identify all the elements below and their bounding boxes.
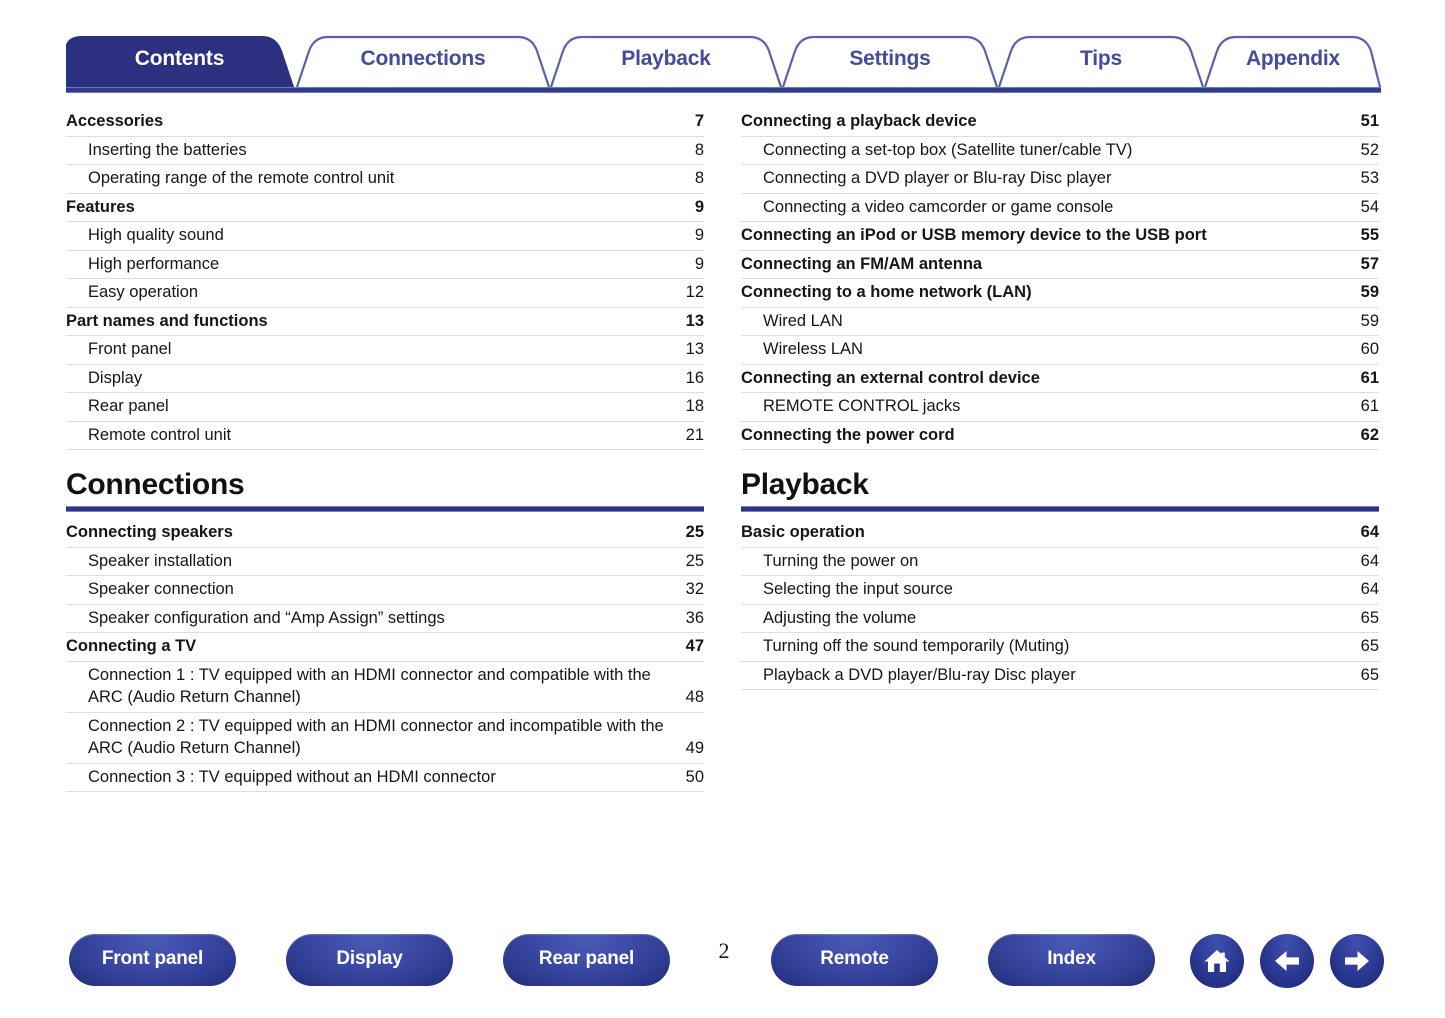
page-number: 2 [694,938,754,964]
toc-entry-title: Wired LAN [741,310,857,333]
tab-bar: Contents Connections Playback Settings T… [66,33,1381,91]
section-title: Connections [66,468,704,506]
toc-column-right: Connecting a playback device51Connecting… [741,108,1379,690]
toc-entry-page: 64 [1355,521,1379,544]
toc-row[interactable]: Connecting the power cord62 [741,422,1379,451]
tab-connections[interactable]: Connections [297,33,549,85]
toc-entry-title: High quality sound [66,224,238,247]
toc-row[interactable]: Connection 2 : TV equipped with an HDMI … [66,713,704,764]
section-heading-connections: Connections [66,468,704,512]
toc-entry-page: 64 [1355,550,1379,573]
front-panel-button[interactable]: Front panel [69,934,236,986]
toc-entry-title: Connecting to a home network (LAN) [741,281,1046,304]
toc-row[interactable]: Connecting a video camcorder or game con… [741,194,1379,223]
toc-entry-title: Connecting the power cord [741,424,969,447]
toc-entry-page: 47 [680,635,704,658]
toc-entry-page: 61 [1355,367,1379,390]
toc-entry-page: 57 [1355,253,1379,276]
toc-row[interactable]: Connection 1 : TV equipped with an HDMI … [66,662,704,713]
toc-entry-page: 21 [680,424,704,447]
toc-entry-title: Turning the power on [741,550,932,573]
toc-entry-title: Connecting an iPod or USB memory device … [741,224,1221,247]
toc-entry-title: Connecting a video camcorder or game con… [741,196,1127,219]
toc-entry-page: 32 [680,578,704,601]
toc-entry-title: Turning off the sound temporarily (Mutin… [741,635,1083,658]
toc-entry-page: 65 [1355,607,1379,630]
toc-entry-page: 61 [1355,395,1379,418]
toc-entry-title: REMOTE CONTROL jacks [741,395,974,418]
toc-entry-page: 13 [680,338,704,361]
toc-row[interactable]: Display16 [66,365,704,394]
toc-entry-title: Speaker configuration and “Amp Assign” s… [66,607,459,630]
toc-entry-title: Connecting speakers [66,521,247,544]
toc-entry-page: 9 [680,253,704,276]
toc-entry-title: Speaker installation [66,550,246,573]
toc-entry-title: Speaker connection [66,578,248,601]
rear-panel-button[interactable]: Rear panel [503,934,670,986]
toc-row[interactable]: Connection 3 : TV equipped without an HD… [66,764,704,793]
tab-playback[interactable]: Playback [551,33,781,85]
toc-entry-page: 48 [680,686,704,709]
toc-row[interactable]: Turning off the sound temporarily (Mutin… [741,633,1379,662]
tab-contents[interactable]: Contents [66,33,293,85]
toc-entry-page: 7 [680,110,704,133]
toc-row[interactable]: Connecting an FM/AM antenna57 [741,251,1379,280]
toc-entry-page: 53 [1355,167,1379,190]
toc-entry-page: 51 [1355,110,1379,133]
toc-entry-page: 18 [680,395,704,418]
toc-row[interactable]: High quality sound9 [66,222,704,251]
toc-row[interactable]: Speaker installation25 [66,548,704,577]
toc-entry-title: Connecting an external control device [741,367,1054,390]
tab-tips[interactable]: Tips [999,33,1203,85]
toc-row[interactable]: Wired LAN59 [741,308,1379,337]
toc-row[interactable]: Rear panel18 [66,393,704,422]
toc-entry-page: 36 [680,607,704,630]
toc-row[interactable]: Speaker configuration and “Amp Assign” s… [66,605,704,634]
toc-row[interactable]: Speaker connection32 [66,576,704,605]
toc-entry-title: Part names and functions [66,310,282,333]
toc-row[interactable]: Connecting a DVD player or Blu-ray Disc … [741,165,1379,194]
tab-appendix[interactable]: Appendix [1205,33,1381,85]
toc-entry-title: Front panel [66,338,185,361]
toc-entry-page: 8 [680,167,704,190]
toc-entry-title: Selecting the input source [741,578,967,601]
section-rule [741,506,1379,512]
toc-entry-title: Basic operation [741,521,879,544]
toc-entry-title: Connection 1 : TV equipped with an HDMI … [66,664,680,709]
display-button[interactable]: Display [286,934,453,986]
toc-entry-page: 65 [1355,664,1379,687]
toc-row[interactable]: Selecting the input source64 [741,576,1379,605]
toc-row[interactable]: Connecting to a home network (LAN)59 [741,279,1379,308]
toc-entry-page: 13 [680,310,704,333]
toc-entry-page: 60 [1355,338,1379,361]
toc-entry-title: Remote control unit [66,424,245,447]
toc-entry-title: Wireless LAN [741,338,877,361]
toc-list-right-playback: Basic operation64Turning the power on64S… [741,519,1379,690]
toc-row[interactable]: Playback a DVD player/Blu-ray Disc playe… [741,662,1379,691]
toc-list-right-top: Connecting a playback device51Connecting… [741,108,1379,450]
toc-entry-page: 64 [1355,578,1379,601]
section-heading-playback: Playback [741,468,1379,512]
toc-list-left-connections: Connecting speakers25Speaker installatio… [66,519,704,792]
toc-row[interactable]: REMOTE CONTROL jacks61 [741,393,1379,422]
remote-button-label: Remote [820,948,888,970]
toc-entry-title: Rear panel [66,395,183,418]
remote-button[interactable]: Remote [771,934,938,986]
tab-settings[interactable]: Settings [783,33,997,85]
toc-entry-page: 62 [1355,424,1379,447]
toc-entry-page: 49 [680,737,704,760]
toc-row[interactable]: Connecting an external control device61 [741,365,1379,394]
toc-row[interactable]: Accessories7 [66,108,704,137]
toc-column-left: Accessories7Inserting the batteries8Oper… [66,108,704,792]
toc-entry-title: Connection 3 : TV equipped without an HD… [66,766,510,789]
toc-entry-title: Accessories [66,110,177,133]
next-arrow-icon[interactable] [1330,934,1384,988]
toc-row[interactable]: Inserting the batteries8 [66,137,704,166]
toc-row[interactable]: Front panel13 [66,336,704,365]
front-panel-button-label: Front panel [102,948,203,970]
toc-entry-title: Easy operation [66,281,212,304]
toc-entry-page: 9 [680,224,704,247]
toc-entry-page: 52 [1355,139,1379,162]
toc-entry-title: Connecting a set-top box (Satellite tune… [741,139,1146,162]
tab-bar-rule [66,87,1381,93]
toc-entry-page: 16 [680,367,704,390]
toc-row[interactable]: Remote control unit21 [66,422,704,451]
toc-entry-title: Display [66,367,156,390]
toc-row[interactable]: Part names and functions13 [66,308,704,337]
toc-entry-page: 25 [680,521,704,544]
toc-entry-title: Connection 2 : TV equipped with an HDMI … [66,715,680,760]
toc-row[interactable]: Adjusting the volume65 [741,605,1379,634]
toc-entry-page: 59 [1355,281,1379,304]
toc-entry-title: Inserting the batteries [66,139,261,162]
toc-entry-page: 59 [1355,310,1379,333]
rear-panel-button-label: Rear panel [539,948,634,970]
toc-row[interactable]: Turning the power on64 [741,548,1379,577]
toc-entry-title: Connecting a DVD player or Blu-ray Disc … [741,167,1125,190]
toc-entry-page: 54 [1355,196,1379,219]
section-rule [66,506,704,512]
toc-entry-title: Features [66,196,149,219]
toc-row[interactable]: Operating range of the remote control un… [66,165,704,194]
toc-entry-title: Adjusting the volume [741,607,930,630]
toc-row[interactable]: Basic operation64 [741,519,1379,548]
toc-row[interactable]: Connecting a TV47 [66,633,704,662]
toc-entry-page: 25 [680,550,704,573]
toc-entry-title: Connecting a playback device [741,110,991,133]
toc-entry-page: 55 [1355,224,1379,247]
section-title: Playback [741,468,1379,506]
toc-entry-page: 12 [680,281,704,304]
toc-row[interactable]: Connecting speakers25 [66,519,704,548]
toc-entry-title: Playback a DVD player/Blu-ray Disc playe… [741,664,1090,687]
toc-row[interactable]: Connecting an iPod or USB memory device … [741,222,1379,251]
toc-entry-page: 65 [1355,635,1379,658]
toc-entry-title: Connecting a TV [66,635,210,658]
display-button-label: Display [336,948,402,970]
index-button[interactable]: Index [988,934,1155,986]
toc-row[interactable]: Wireless LAN60 [741,336,1379,365]
back-arrow-icon[interactable] [1260,934,1314,988]
toc-entry-title: Operating range of the remote control un… [66,167,408,190]
toc-row[interactable]: Easy operation12 [66,279,704,308]
toc-entry-title: High performance [66,253,233,276]
toc-entry-title: Connecting an FM/AM antenna [741,253,996,276]
home-icon[interactable] [1190,934,1244,988]
toc-row[interactable]: Features9 [66,194,704,223]
toc-page: Contents Connections Playback Settings T… [0,0,1445,1018]
toc-entry-page: 9 [680,196,704,219]
toc-list-left-top: Accessories7Inserting the batteries8Oper… [66,108,704,450]
toc-row[interactable]: High performance9 [66,251,704,280]
toc-row[interactable]: Connecting a set-top box (Satellite tune… [741,137,1379,166]
toc-entry-page: 50 [680,766,704,789]
footer-toolbar: Front panel Display Rear panel 2 Remote … [0,930,1445,1002]
index-button-label: Index [1047,948,1096,970]
toc-row[interactable]: Connecting a playback device51 [741,108,1379,137]
toc-entry-page: 8 [680,139,704,162]
